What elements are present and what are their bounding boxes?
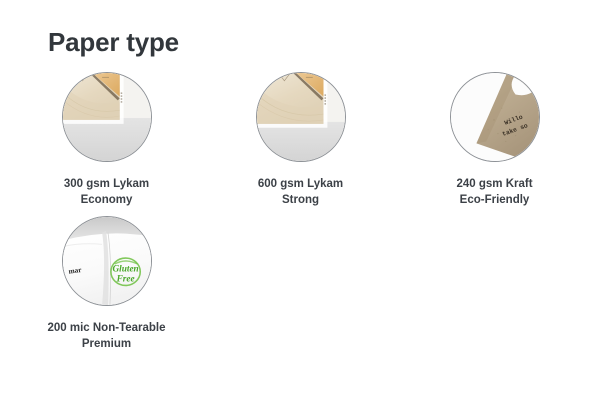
premium-text-partial: mar [67,265,82,276]
caption-line-1: 600 gsm Lykam [226,176,376,192]
thumbnail-non-tearable-premium[interactable]: mar Gluten Free [62,216,152,306]
page-title: Paper type [48,26,179,58]
swatch-row-1: 300 gsm Lykam Economy [0,72,600,208]
gluten-free-logo-line-1: Gluten [112,265,138,275]
thumbnail-lykam-economy[interactable] [62,72,152,162]
caption-line-2: Premium [32,336,182,352]
paper-bag-closeup-cream-icon [257,73,345,161]
thumbnail-kraft-eco-friendly[interactable]: Willo take so [450,72,540,162]
caption-lykam-economy: 300 gsm Lykam Economy [32,176,182,208]
paper-bag-closeup-cream-icon [63,73,151,161]
gluten-free-logo-line-2: Free [115,275,134,285]
swatch-grid: 300 gsm Lykam Economy [0,72,600,352]
caption-line-1: 240 gsm Kraft [420,176,570,192]
swatch-lykam-economy[interactable]: 300 gsm Lykam Economy [19,72,194,208]
thumbnail-lykam-strong[interactable] [256,72,346,162]
swatch-row-2: mar Gluten Free 200 mic Non-Tearable Pre… [0,216,600,352]
caption-line-2: Economy [32,192,182,208]
caption-lykam-strong: 600 gsm Lykam Strong [226,176,376,208]
caption-kraft-eco-friendly: 240 gsm Kraft Eco-Friendly [420,176,570,208]
caption-line-2: Strong [226,192,376,208]
caption-line-2: Eco-Friendly [420,192,570,208]
white-nontearable-bag-gluten-free-icon: mar Gluten Free [63,217,151,305]
kraft-bag-diecut-handle-icon: Willo take so [451,73,539,161]
caption-non-tearable-premium: 200 mic Non-Tearable Premium [32,320,182,352]
caption-line-1: 200 mic Non-Tearable [32,320,182,336]
caption-line-1: 300 gsm Lykam [32,176,182,192]
swatch-non-tearable-premium[interactable]: mar Gluten Free 200 mic Non-Tearable Pre… [19,216,194,352]
swatch-lykam-strong[interactable]: 600 gsm Lykam Strong [213,72,388,208]
swatch-kraft-eco-friendly[interactable]: Willo take so 240 gsm Kraft Eco-Friendly [407,72,582,208]
paper-type-panel: Paper type [0,0,600,400]
